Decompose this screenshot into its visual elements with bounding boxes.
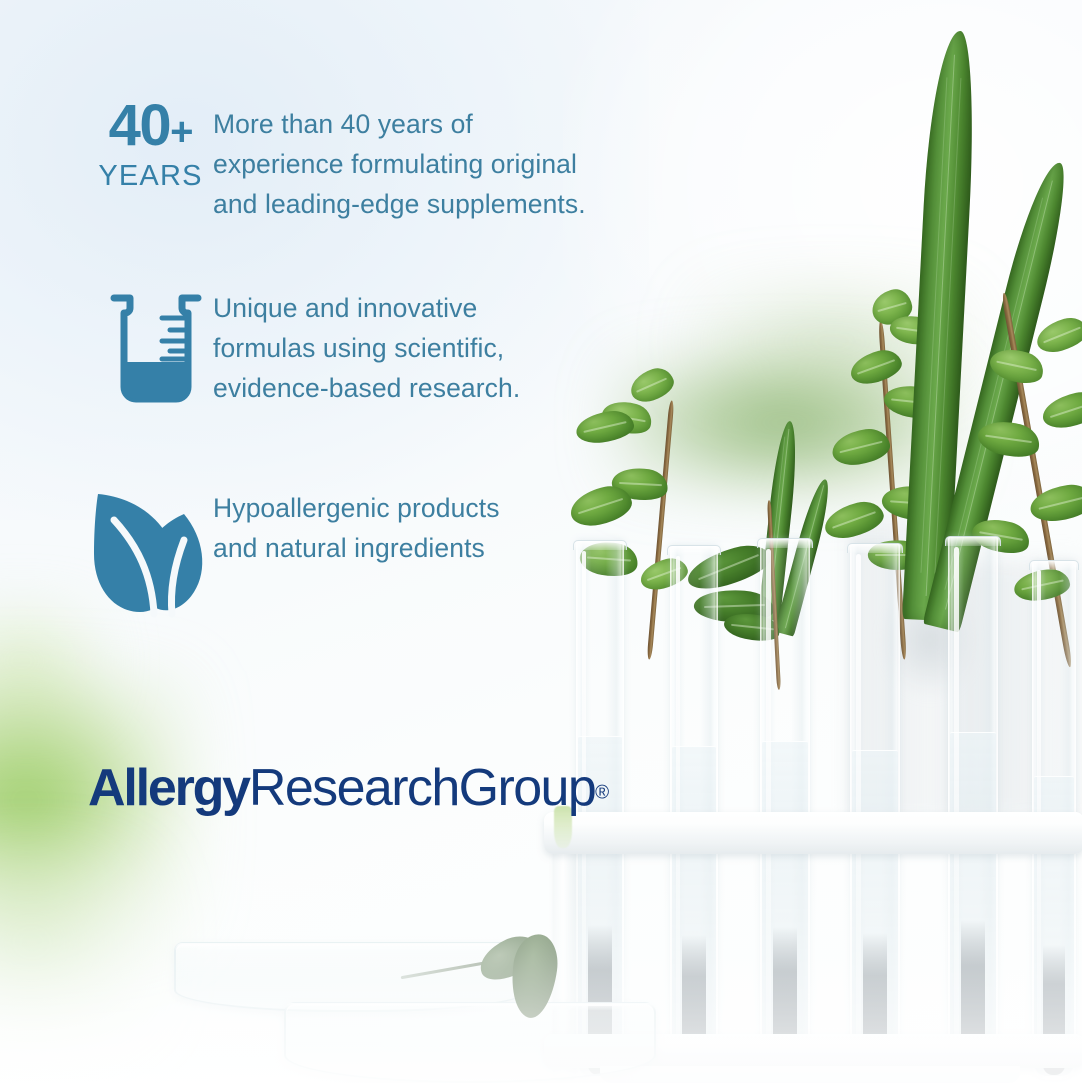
- beaker-icon-slot: [88, 288, 213, 419]
- years-number: 40+: [88, 100, 213, 158]
- registered-trademark-symbol: ®: [595, 783, 609, 804]
- leaf: [1039, 388, 1082, 432]
- brand-logo-secondary: ResearchGroup: [249, 759, 595, 817]
- feature-text-years: More than 40 years of experience formula…: [213, 104, 586, 224]
- brand-logo-primary: Allergy: [88, 759, 249, 817]
- years-badge-slot: 40+ YEARS: [88, 104, 213, 192]
- feature-text-hypoallergenic: Hypoallergenic products and natural ingr…: [213, 488, 500, 568]
- tube-rim: [757, 538, 813, 548]
- marketing-copy-panel: 40+ YEARS More than 40 years of experien…: [0, 0, 620, 1083]
- feature-text-formulas: Unique and innovative formulas using sci…: [213, 288, 520, 408]
- years-plus-sign: +: [170, 110, 192, 154]
- tube-rim: [945, 536, 1001, 546]
- leaf: [821, 497, 887, 543]
- years-unit-label: YEARS: [88, 160, 213, 192]
- beaker-icon: [95, 288, 207, 419]
- feature-innovative-formulas: Unique and innovative formulas using sci…: [88, 288, 520, 419]
- feature-years-experience: 40+ YEARS More than 40 years of experien…: [88, 104, 586, 224]
- leaf: [626, 364, 677, 406]
- years-badge: 40+ YEARS: [88, 100, 213, 192]
- tube-rim: [667, 545, 721, 555]
- leaf-icon-slot: [88, 488, 213, 623]
- image-canvas: 40+ YEARS More than 40 years of experien…: [0, 0, 1082, 1083]
- leaf: [830, 426, 892, 468]
- tube-rim: [1029, 560, 1079, 570]
- tube-rim: [847, 543, 903, 553]
- feature-hypoallergenic: Hypoallergenic products and natural ingr…: [88, 488, 500, 623]
- leaf: [1033, 313, 1082, 356]
- brand-logo: AllergyResearchGroup®: [88, 758, 609, 818]
- leaf-rib: [920, 78, 947, 573]
- leaf-icon: [92, 488, 210, 623]
